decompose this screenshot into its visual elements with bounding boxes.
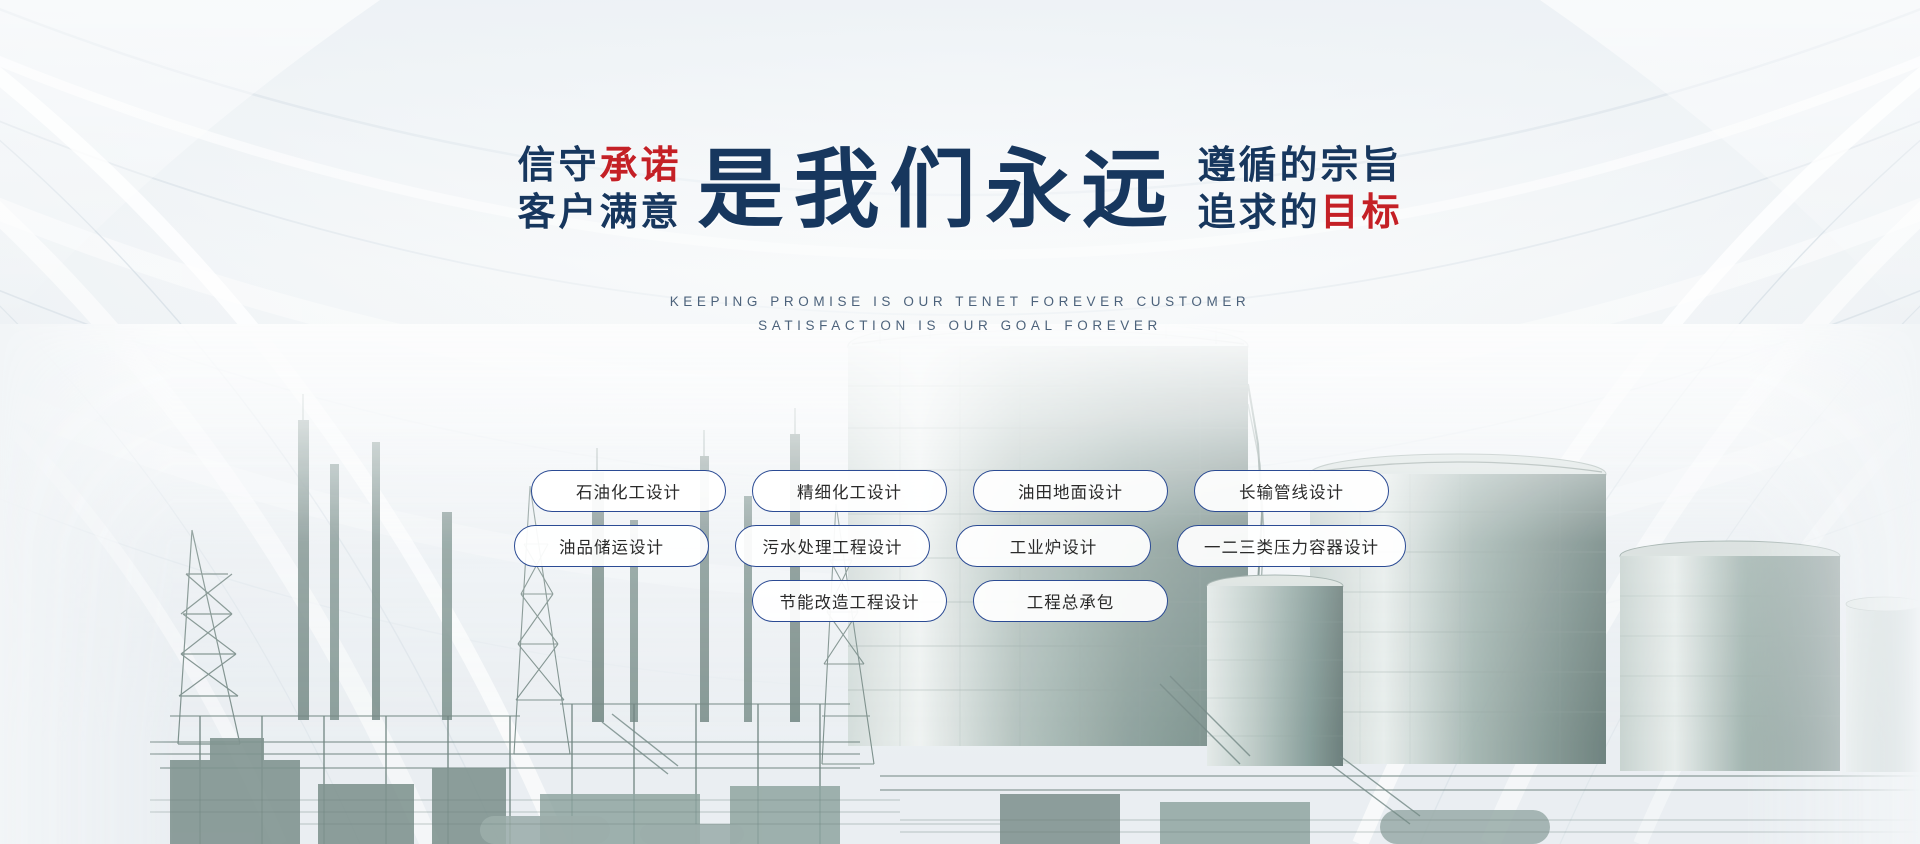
headline-left-block: 信守承诺 客户满意 [517, 143, 695, 237]
headline-right-line-1: 遵循的宗旨 [1198, 143, 1403, 190]
service-pill-row-3: 节能改造工程设计 工程总承包 [752, 580, 1168, 622]
headline: 信守承诺 客户满意 是我们永远 遵循的宗旨 追求的目标 [0, 142, 1920, 238]
service-pill-pressure-vessel-design[interactable]: 一二三类压力容器设计 [1177, 525, 1406, 567]
headline-center: 是我们永远 [696, 142, 1180, 238]
service-pill-industrial-furnace-design[interactable]: 工业炉设计 [956, 525, 1151, 567]
headline-left-line-1: 信守承诺 [517, 143, 681, 190]
service-pill-row-2: 油品储运设计 污水处理工程设计 工业炉设计 一二三类压力容器设计 [514, 525, 1406, 567]
headline-right-line-2: 追求的目标 [1198, 190, 1403, 237]
headline-left-line-2-navy: 客户满意 [517, 192, 681, 234]
headline-right-line-2-red: 目标 [1321, 192, 1403, 234]
headline-left-line-1-navy: 信守 [517, 145, 599, 187]
service-pill-oil-storage-transport-design[interactable]: 油品储运设计 [514, 525, 709, 567]
service-pill-group: 石油化工设计 精细化工设计 油田地面设计 长输管线设计 油品储运设计 污水处理工… [0, 470, 1920, 622]
headline-left-line-1-red: 承诺 [599, 145, 681, 187]
english-subtitle: KEEPING PROMISE IS OUR TENET FOREVER CUS… [0, 290, 1920, 338]
service-pill-oilfield-surface-design[interactable]: 油田地面设计 [973, 470, 1168, 512]
headline-left-line-2: 客户满意 [517, 190, 681, 237]
service-pill-epc-general-contracting[interactable]: 工程总承包 [973, 580, 1168, 622]
service-pill-row-1: 石油化工设计 精细化工设计 油田地面设计 长输管线设计 [531, 470, 1389, 512]
hero-banner: 信守承诺 客户满意 是我们永远 遵循的宗旨 追求的目标 KEEPING PROM… [0, 0, 1920, 844]
service-pill-sewage-treatment-design[interactable]: 污水处理工程设计 [735, 525, 930, 567]
service-pill-fine-chemical-design[interactable]: 精细化工设计 [752, 470, 947, 512]
background-tint [0, 0, 1920, 844]
subtitle-line-2: SATISFACTION IS OUR GOAL FOREVER [0, 314, 1920, 338]
headline-right-block: 遵循的宗旨 追求的目标 [1180, 143, 1403, 237]
service-pill-petrochemical-design[interactable]: 石油化工设计 [531, 470, 726, 512]
headline-right-line-1-navy: 遵循的宗旨 [1198, 145, 1403, 187]
subtitle-line-1: KEEPING PROMISE IS OUR TENET FOREVER CUS… [0, 290, 1920, 314]
service-pill-energy-saving-retrofit-design[interactable]: 节能改造工程设计 [752, 580, 947, 622]
service-pill-long-distance-pipeline-design[interactable]: 长输管线设计 [1194, 470, 1389, 512]
headline-right-line-2-navy: 追求的 [1198, 192, 1321, 234]
